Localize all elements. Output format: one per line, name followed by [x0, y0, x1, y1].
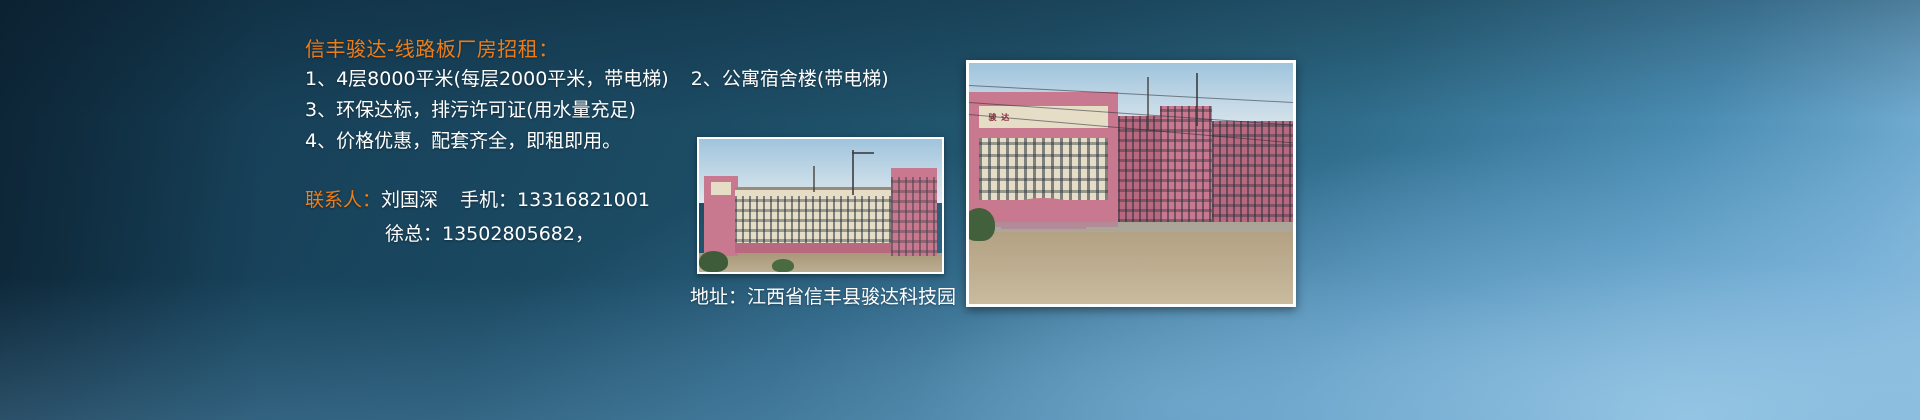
photo-main-base	[735, 243, 891, 254]
gate-building-left-facade	[979, 138, 1109, 201]
gate-wall-strip	[969, 222, 1293, 232]
gate-utility-pole	[1147, 77, 1149, 130]
address-caption: 地址：江西省信丰县骏达科技园	[690, 283, 956, 311]
contact-phone-number: 13316821001	[517, 189, 650, 211]
left-vignette	[0, 0, 260, 420]
bullet-item-1: 1、4层8000平米(每层2000平米，带电梯)2、公寓宿舍楼(带电梯)	[305, 64, 1025, 95]
gate-building-right-1	[1160, 106, 1212, 222]
gate-left-windows	[979, 138, 1109, 201]
factory-exterior-photo-content	[699, 139, 942, 272]
gate-foreground-yard	[969, 232, 1293, 304]
bullet-1-number: 1、	[305, 68, 336, 90]
photo-building-right	[891, 168, 937, 256]
bullet-3-text: 环保达标，排污许可证(用水量充足)	[336, 99, 636, 121]
promo-title: 信丰骏达-线路板厂房招租：	[305, 34, 1025, 64]
photo-tree-mid	[772, 259, 794, 272]
photo-building-left-top	[711, 182, 730, 195]
photo-crane-mast	[852, 150, 854, 195]
campus-gate-photo: 骏 达	[966, 60, 1296, 307]
bullet-3-number: 3、	[305, 99, 336, 121]
bullet-1-text: 4层8000平米(每层2000平米，带电梯)	[336, 68, 669, 90]
factory-exterior-photo	[697, 137, 944, 274]
bullet-4-text: 价格优惠，配套齐全，即租即用。	[336, 130, 621, 152]
contact-label: 联系人：	[305, 189, 381, 211]
photo-ground	[699, 253, 942, 272]
contact-phone-label: 手机：	[460, 189, 517, 211]
gate-crane	[1196, 73, 1198, 126]
gate-building-center	[1118, 116, 1160, 222]
photo-pole	[813, 166, 815, 193]
photo-right-windows	[891, 177, 937, 256]
gate-center-windows	[1118, 116, 1160, 222]
bullet-1-number-2: 2、	[691, 68, 722, 90]
photo-crane-jib	[852, 152, 874, 154]
promo-banner: 信丰骏达-线路板厂房招租： 1、4层8000平米(每层2000平米，带电梯)2、…	[0, 0, 1920, 420]
bullet-4-number: 4、	[305, 130, 336, 152]
photo-tree-left	[699, 251, 728, 272]
bullet-item-3: 3、环保达标，排污许可证(用水量充足)	[305, 95, 1025, 126]
bullet-1-text-2: 公寓宿舍楼(带电梯)	[722, 68, 889, 90]
campus-gate-photo-content: 骏 达	[969, 63, 1293, 304]
gate-right1-windows	[1160, 106, 1212, 222]
contact-name: 刘国深	[381, 189, 438, 211]
